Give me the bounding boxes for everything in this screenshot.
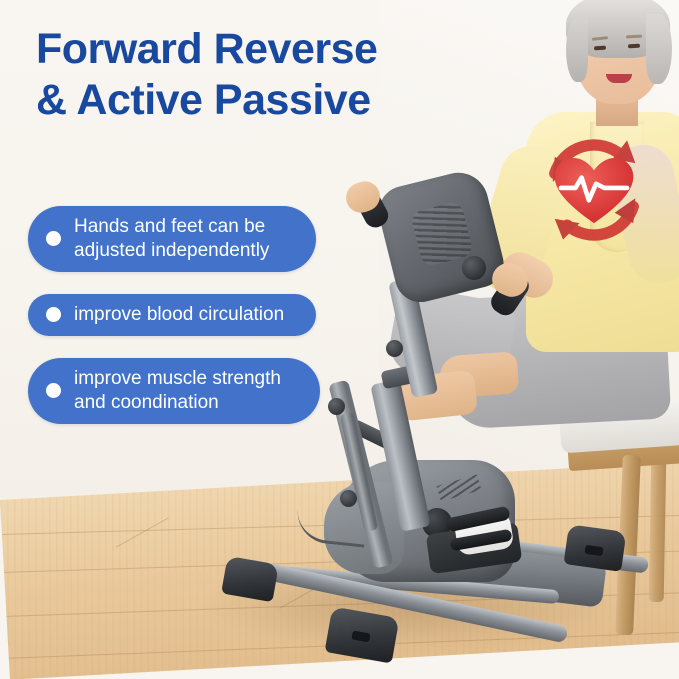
feature-pill-label: improve muscle strength and coondination (74, 367, 281, 415)
feature-pill-label: Hands and feet can be adjusted independe… (74, 215, 269, 263)
adjustment-knob[interactable] (328, 398, 345, 415)
feature-pill: improve blood circulation (28, 294, 316, 336)
power-cable (295, 508, 368, 547)
floor-plank-seam (116, 517, 169, 547)
eye (628, 44, 640, 49)
product-banner: Forward Reverse & Active Passive Hands a… (0, 0, 679, 679)
resistance-knob[interactable] (462, 256, 486, 280)
feature-pill: Hands and feet can be adjusted independe… (28, 206, 316, 272)
grey-hair-side (646, 14, 672, 84)
adjustment-knob[interactable] (340, 490, 357, 507)
dot-bullet-icon (46, 231, 61, 246)
page-title: Forward Reverse & Active Passive (36, 24, 377, 125)
feature-pill: improve muscle strength and coondination (28, 358, 320, 424)
feature-pill-label: improve blood circulation (74, 303, 284, 327)
dot-bullet-icon (46, 307, 61, 322)
feature-list: Hands and feet can be adjusted independe… (28, 206, 320, 446)
rubber-foot-cap (221, 556, 279, 602)
eye (594, 46, 606, 51)
adjustment-knob[interactable] (386, 340, 403, 357)
grey-hair-side (566, 18, 588, 82)
dot-bullet-icon (46, 383, 61, 398)
